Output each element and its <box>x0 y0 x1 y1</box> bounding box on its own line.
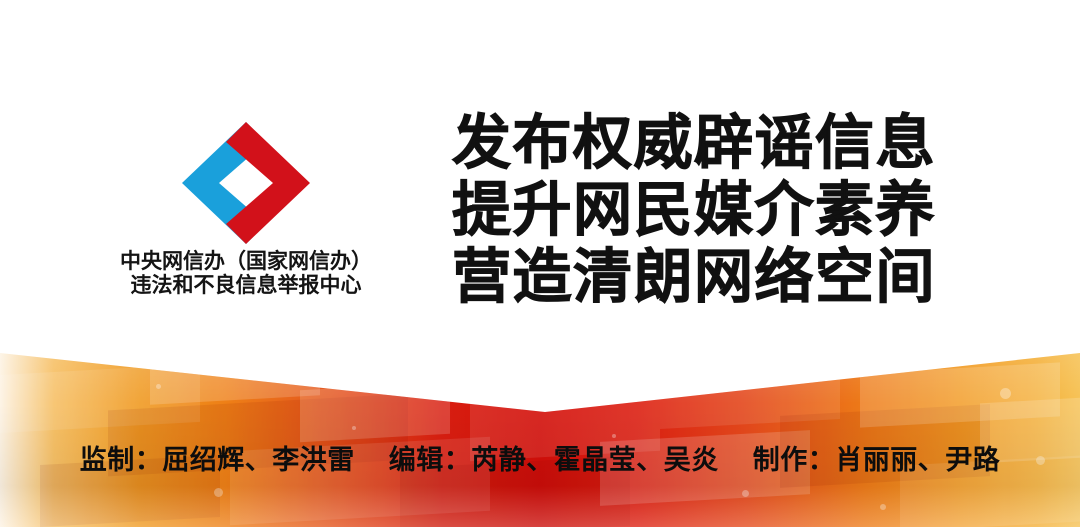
headline-slogan: 发布权威辟谣信息 提升网民媒介素养 营造清朗网络空间 <box>452 110 952 311</box>
producer-label: 制作： <box>753 445 836 475</box>
headline-line-1: 发布权威辟谣信息 <box>452 110 952 177</box>
poster-canvas: 中央网信办（国家网信办） 违法和不良信息举报中心 发布权威辟谣信息 提升网民媒介… <box>0 0 1080 527</box>
editor-label: 编辑： <box>389 445 472 475</box>
organization-logo-block: 中央网信办（国家网信办） 违法和不良信息举报中心 <box>86 120 406 320</box>
producer-names: 肖丽丽、尹路 <box>835 445 1000 475</box>
logo-text-line-2: 违法和不良信息举报中心 <box>86 274 406 298</box>
organization-name: 中央网信办（国家网信办） 违法和不良信息举报中心 <box>86 250 406 299</box>
logo-text-line-1: 中央网信办（国家网信办） <box>86 250 406 274</box>
logo-red-chevron <box>226 122 310 244</box>
editor-names: 芮静、霍晶莹、吴炎 <box>471 445 719 475</box>
banner-gradient <box>0 340 1080 527</box>
cac-report-center-chevron-logo-icon <box>86 120 406 248</box>
bottom-credits-banner <box>0 340 1080 527</box>
headline-line-3: 营造清朗网络空间 <box>452 244 952 311</box>
credits-line: 监制：屈绍辉、李洪雷编辑：芮静、霍晶莹、吴炎制作：肖丽丽、尹路 <box>0 443 1080 477</box>
supervisor-label: 监制： <box>80 445 163 475</box>
supervisor-names: 屈绍辉、李洪雷 <box>162 445 355 475</box>
headline-line-2: 提升网民媒介素养 <box>452 177 952 244</box>
